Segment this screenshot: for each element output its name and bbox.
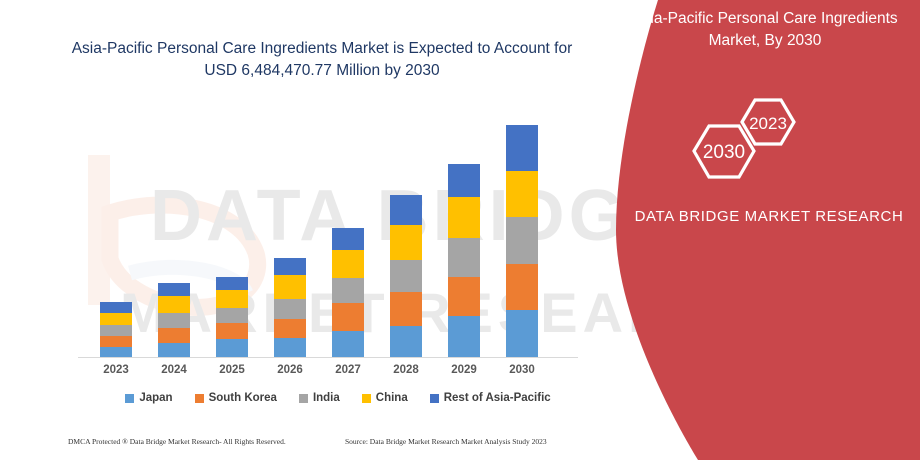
segment-rest-of-asia-pacific-2027[interactable]: [332, 228, 364, 249]
hexagon-2030-label: 2030: [703, 142, 745, 163]
brand-panel: 2030 2023 Asia-Pacific Personal Care Ing…: [580, 0, 920, 460]
bar-2023[interactable]: [100, 302, 132, 357]
segment-japan-2029[interactable]: [448, 316, 480, 357]
bar-2029[interactable]: [448, 164, 480, 357]
legend-item-india[interactable]: India: [299, 392, 340, 404]
segment-japan-2024[interactable]: [158, 343, 190, 357]
legend-item-south-korea[interactable]: South Korea: [195, 392, 277, 404]
bar-2025[interactable]: [216, 277, 248, 357]
chart-legend: JapanSouth KoreaIndiaChinaRest of Asia-P…: [88, 392, 588, 404]
segment-rest-of-asia-pacific-2026[interactable]: [274, 258, 306, 275]
segment-india-2023[interactable]: [100, 325, 132, 336]
segment-india-2024[interactable]: [158, 313, 190, 328]
legend-label: Japan: [139, 392, 172, 404]
segment-japan-2023[interactable]: [100, 347, 132, 357]
legend-label: South Korea: [209, 392, 277, 404]
segment-india-2030[interactable]: [506, 217, 538, 264]
segment-rest-of-asia-pacific-2030[interactable]: [506, 125, 538, 172]
legend-swatch-icon: [430, 394, 439, 403]
legend-item-japan[interactable]: Japan: [125, 392, 172, 404]
segment-rest-of-asia-pacific-2025[interactable]: [216, 277, 248, 290]
legend-swatch-icon: [299, 394, 308, 403]
legend-label: India: [313, 392, 340, 404]
segment-china-2026[interactable]: [274, 275, 306, 299]
legend-swatch-icon: [125, 394, 134, 403]
footer-copyright: DMCA Protected ® Data Bridge Market Rese…: [68, 437, 286, 446]
segment-rest-of-asia-pacific-2024[interactable]: [158, 283, 190, 297]
legend-item-china[interactable]: China: [362, 392, 408, 404]
segment-south-korea-2029[interactable]: [448, 277, 480, 316]
panel-title: Asia-Pacific Personal Care Ingredients M…: [580, 8, 904, 52]
segment-rest-of-asia-pacific-2029[interactable]: [448, 164, 480, 197]
segment-japan-2027[interactable]: [332, 331, 364, 357]
segment-china-2024[interactable]: [158, 296, 190, 313]
segment-india-2029[interactable]: [448, 238, 480, 277]
segment-south-korea-2027[interactable]: [332, 303, 364, 330]
x-label-2029: 2029: [435, 364, 493, 376]
segment-rest-of-asia-pacific-2028[interactable]: [390, 195, 422, 225]
segment-china-2027[interactable]: [332, 250, 364, 278]
segment-china-2023[interactable]: [100, 313, 132, 325]
bar-2024[interactable]: [158, 283, 190, 357]
panel-brand-name: DATA BRIDGE MARKET RESEARCH: [580, 205, 914, 229]
segment-china-2030[interactable]: [506, 171, 538, 217]
segment-china-2025[interactable]: [216, 290, 248, 309]
x-label-2023: 2023: [87, 364, 145, 376]
segment-japan-2028[interactable]: [390, 326, 422, 357]
bar-2030[interactable]: [506, 125, 538, 357]
segment-japan-2025[interactable]: [216, 339, 248, 357]
segment-india-2027[interactable]: [332, 278, 364, 303]
legend-item-rest-of-asia-pacific[interactable]: Rest of Asia-Pacific: [430, 392, 551, 404]
segment-south-korea-2028[interactable]: [390, 292, 422, 326]
x-label-2026: 2026: [261, 364, 319, 376]
legend-label: Rest of Asia-Pacific: [444, 392, 551, 404]
segment-rest-of-asia-pacific-2023[interactable]: [100, 302, 132, 313]
x-label-2028: 2028: [377, 364, 435, 376]
legend-swatch-icon: [195, 394, 204, 403]
bar-2027[interactable]: [332, 228, 364, 357]
x-label-2027: 2027: [319, 364, 377, 376]
x-axis-line: [78, 357, 578, 358]
segment-india-2028[interactable]: [390, 260, 422, 291]
segment-india-2025[interactable]: [216, 308, 248, 323]
legend-label: China: [376, 392, 408, 404]
segment-south-korea-2026[interactable]: [274, 319, 306, 339]
segment-south-korea-2025[interactable]: [216, 323, 248, 340]
hexagon-2023-label: 2023: [749, 114, 787, 133]
segment-south-korea-2023[interactable]: [100, 336, 132, 348]
footer-source: Source: Data Bridge Market Research Mark…: [345, 437, 547, 446]
bar-2028[interactable]: [390, 195, 422, 357]
infographic-canvas: DATA BRIDGE MARKET RESEARCH Asia-Pacific…: [0, 0, 920, 460]
x-label-2025: 2025: [203, 364, 261, 376]
segment-japan-2030[interactable]: [506, 310, 538, 357]
legend-swatch-icon: [362, 394, 371, 403]
segment-japan-2026[interactable]: [274, 338, 306, 357]
segment-china-2028[interactable]: [390, 225, 422, 260]
segment-south-korea-2030[interactable]: [506, 264, 538, 310]
bar-2026[interactable]: [274, 258, 306, 357]
segment-india-2026[interactable]: [274, 299, 306, 319]
x-label-2024: 2024: [145, 364, 203, 376]
stacked-bar-chart: 20232024202520262027202820292030: [0, 0, 620, 460]
segment-south-korea-2024[interactable]: [158, 328, 190, 344]
x-label-2030: 2030: [493, 364, 551, 376]
segment-china-2029[interactable]: [448, 197, 480, 238]
